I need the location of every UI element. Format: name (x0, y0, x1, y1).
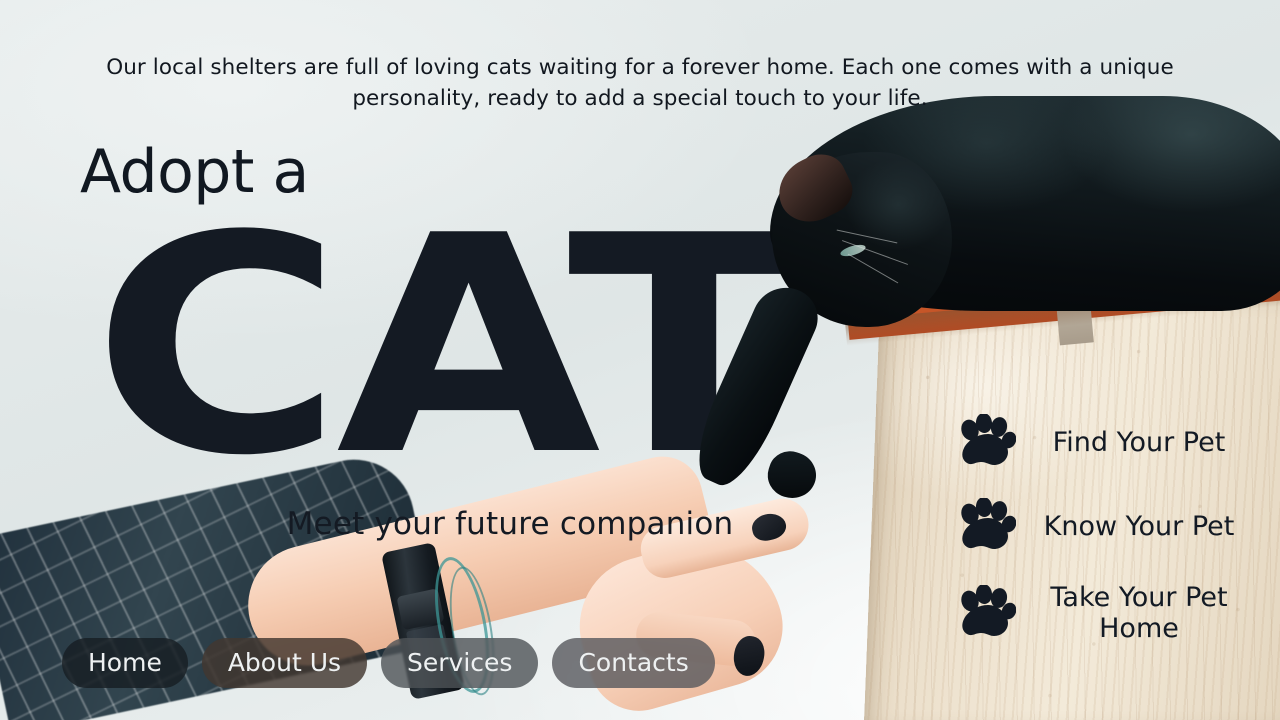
poster-canvas: CAT Our local shelters are full of lovin… (0, 0, 1280, 720)
feature-item[interactable]: Know Your Pet (958, 498, 1248, 554)
feature-label: Take Your Pet Home (1030, 582, 1248, 644)
nav-item-about-us[interactable]: About Us (202, 638, 367, 688)
paw-print-icon (958, 498, 1016, 554)
nav-item-services[interactable]: Services (381, 638, 538, 688)
feature-item[interactable]: Take Your Pet Home (958, 582, 1248, 644)
tagline: Meet your future companion (170, 506, 850, 542)
feature-label: Find Your Pet (1030, 427, 1248, 458)
feature-item[interactable]: Find Your Pet (958, 414, 1248, 470)
nav-item-contacts[interactable]: Contacts (552, 638, 714, 688)
headline-kicker: Adopt a (80, 142, 309, 202)
feature-label: Know Your Pet (1030, 511, 1248, 542)
paw-print-icon (958, 414, 1016, 470)
feature-list: Find Your Pet Know Your Pet (958, 414, 1248, 644)
main-navigation: Home About Us Services Contacts (62, 638, 715, 688)
intro-paragraph: Our local shelters are full of loving ca… (90, 52, 1190, 114)
paw-print-icon (958, 585, 1016, 641)
nav-item-home[interactable]: Home (62, 638, 188, 688)
